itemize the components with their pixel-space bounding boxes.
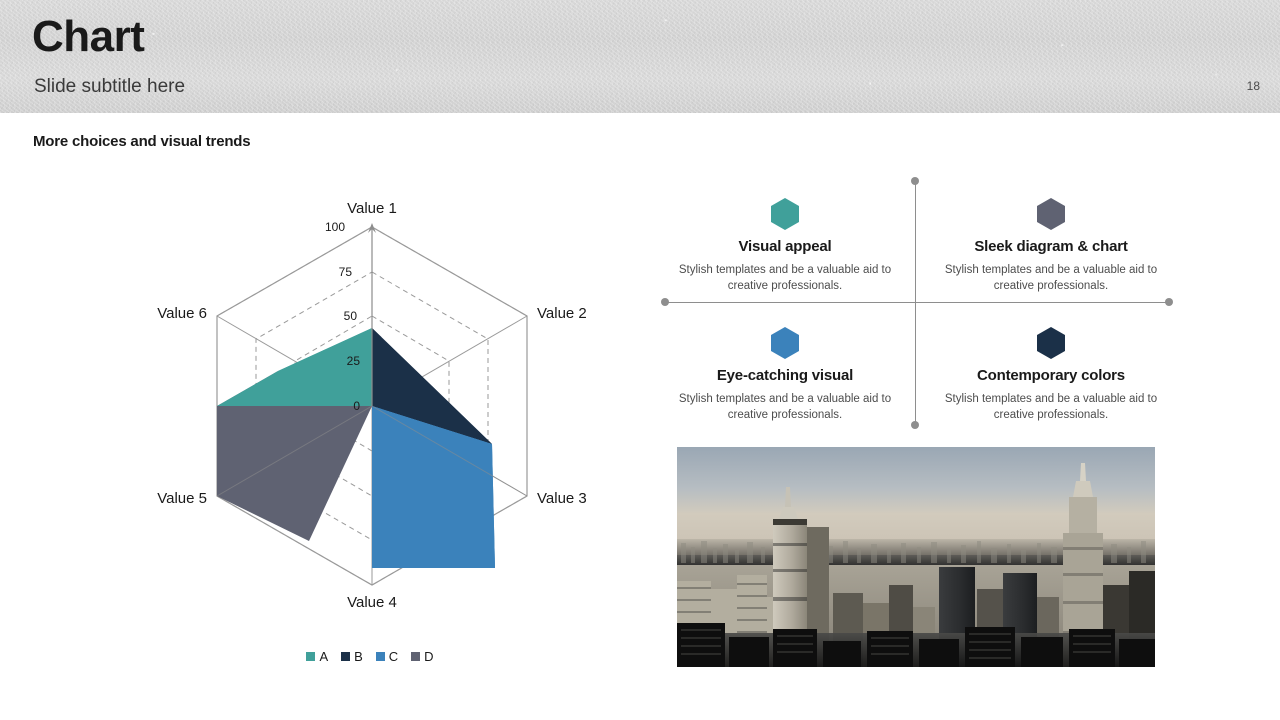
legend-swatch-b: [341, 652, 350, 661]
legend-item-a[interactable]: A: [306, 650, 328, 663]
quadrant-diagram: Visual appeal Stylish templates and be a…: [660, 172, 1176, 432]
slide-canvas: Chart Slide subtitle here 18 More choice…: [0, 0, 1280, 720]
legend-item-b[interactable]: B: [341, 650, 363, 663]
hexagon-icon: [771, 198, 799, 230]
page-number: 18: [1247, 79, 1260, 93]
legend-swatch-a: [306, 652, 315, 661]
quadrant-dot-left: [661, 298, 669, 306]
legend-swatch-d: [411, 652, 420, 661]
radar-axis-label-value-4: Value 4: [347, 594, 397, 611]
radar-axis-label-value-2: Value 2: [537, 305, 587, 322]
radar-tick-75: 75: [339, 265, 353, 279]
quadrant-body-visual-appeal: Stylish templates and be a valuable aid …: [666, 263, 904, 294]
page-subtitle: Slide subtitle here: [34, 76, 185, 98]
legend-swatch-c: [376, 652, 385, 661]
radar-axis-label-value-6: Value 6: [157, 305, 207, 322]
quadrant-cell-contemporary-colors[interactable]: Contemporary colors Stylish templates an…: [932, 327, 1170, 423]
radar-tick-50: 50: [344, 309, 358, 323]
hexagon-icon: [1037, 198, 1065, 230]
quadrant-body-contemporary-colors: Stylish templates and be a valuable aid …: [932, 392, 1170, 423]
radar-chart: 100 75 50 25 0 Value 1 Value 2 Value 3 V…: [120, 185, 620, 625]
radar-tick-25: 25: [347, 354, 361, 368]
section-heading: More choices and visual trends: [33, 133, 250, 150]
hexagon-icon: [771, 327, 799, 359]
page-title: Chart: [32, 14, 144, 61]
quadrant-dot-right: [1165, 298, 1173, 306]
radar-axis-label-value-3: Value 3: [537, 490, 587, 507]
radar-tick-100: 100: [325, 220, 345, 234]
city-skyline-illustration: [677, 447, 1155, 667]
radar-chart-svg: 100 75 50 25 0 Value 1 Value 2 Value 3 V…: [120, 185, 620, 625]
slide-header-band: Chart Slide subtitle here 18: [0, 0, 1280, 113]
quadrant-body-sleek-diagram-chart: Stylish templates and be a valuable aid …: [932, 263, 1170, 294]
quadrant-title-sleek-diagram-chart: Sleek diagram & chart: [932, 238, 1170, 255]
legend-item-c[interactable]: C: [376, 650, 398, 663]
quadrant-title-visual-appeal: Visual appeal: [666, 238, 904, 255]
radar-axis-label-value-5: Value 5: [157, 490, 207, 507]
quadrant-cell-visual-appeal[interactable]: Visual appeal Stylish templates and be a…: [666, 198, 904, 294]
quadrant-dot-bottom: [911, 421, 919, 429]
legend-item-d[interactable]: D: [411, 650, 433, 663]
hexagon-icon: [1037, 327, 1065, 359]
radar-area-D3: [217, 406, 372, 541]
quadrant-cell-eye-catching-visual[interactable]: Eye-catching visual Stylish templates an…: [666, 327, 904, 423]
quadrant-cell-sleek-diagram-chart[interactable]: Sleek diagram & chart Stylish templates …: [932, 198, 1170, 294]
quadrant-title-contemporary-colors: Contemporary colors: [932, 367, 1170, 384]
radar-axis-label-value-1: Value 1: [347, 200, 397, 217]
quadrant-horizontal-divider: [668, 302, 1166, 303]
quadrant-body-eye-catching-visual: Stylish templates and be a valuable aid …: [666, 392, 904, 423]
city-skyline-photo: [677, 447, 1155, 667]
legend-label-b: B: [354, 650, 363, 663]
radar-tick-0: 0: [353, 399, 360, 413]
quadrant-title-eye-catching-visual: Eye-catching visual: [666, 367, 904, 384]
chart-legend: A B C D: [0, 650, 740, 663]
legend-label-d: D: [424, 650, 433, 663]
legend-label-c: C: [389, 650, 398, 663]
quadrant-dot-top: [911, 177, 919, 185]
legend-label-a: A: [319, 650, 328, 663]
